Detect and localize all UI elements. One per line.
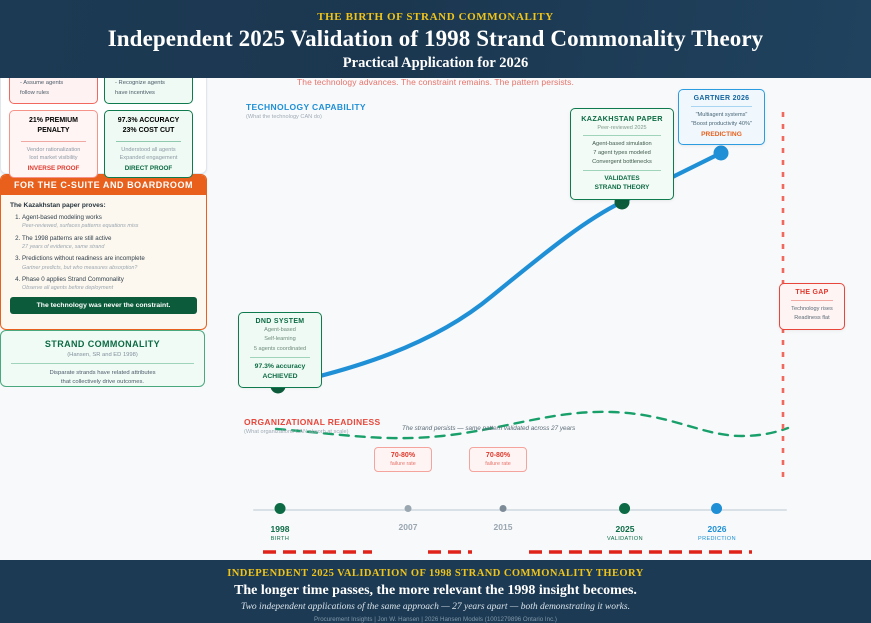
failure-1-value: 70-80% <box>381 452 425 459</box>
technology-capability-curve <box>278 202 622 386</box>
label-tech-title: TECHNOLOGY CAPABILITY <box>246 102 366 112</box>
gartner-title: GARTNER 2026 <box>683 95 760 102</box>
timeline-year: 2026 <box>698 524 736 534</box>
list-item: have incentives <box>115 89 188 99</box>
csuite-item-main: Phase 0 applies Strand Commonality <box>22 276 124 283</box>
list-item: Predictions without readiness are incomp… <box>22 255 197 272</box>
card-penalty-proof: INVERSE PROOF <box>14 165 93 172</box>
page-header: THE BIRTH OF STRAND COMMONALITY Independ… <box>0 0 871 78</box>
kz-sub: Peer-reviewed 2025 <box>575 125 669 131</box>
timeline-node-2026[interactable]: 2026 PREDICTION <box>698 503 736 542</box>
gartner-key: PREDICTING <box>683 131 760 138</box>
divider <box>791 300 833 301</box>
list-item: follow rules <box>20 89 93 99</box>
csuite-lead: The Kazakhstan paper proves: <box>10 202 197 209</box>
csuite-item-main: The 1998 patterns are still active <box>22 235 111 242</box>
marker-gartner-2026 <box>714 146 729 161</box>
kz-title: KAZAKHSTAN PAPER <box>575 114 669 123</box>
dnd-title: DND SYSTEM <box>242 318 318 325</box>
footer-sub: Two independent applications of the same… <box>0 602 871 612</box>
panel-strand-commonality: STRAND COMMONALITY (Hansen, SR and ED 19… <box>0 330 205 387</box>
timeline-dot <box>711 503 722 514</box>
panel-csuite: FOR THE C-SUITE AND BOARDROOM The Kazakh… <box>0 174 207 330</box>
label-technology-capability: TECHNOLOGY CAPABILITY (What the technolo… <box>246 102 366 120</box>
divider <box>583 135 661 136</box>
timeline-node-2015[interactable]: 2015 <box>494 503 513 534</box>
divider <box>691 106 752 107</box>
csuite-item-main: Agent-based modeling works <box>22 214 102 221</box>
divider <box>116 141 181 142</box>
footer-main: The longer time passes, the more relevan… <box>0 583 871 599</box>
timeline-dot <box>619 503 630 514</box>
list-item: Phase 0 applies Strand Commonality Obser… <box>22 276 197 293</box>
strand-line-2: that collectively drive outcomes. <box>1 378 204 387</box>
timeline-dot <box>404 505 411 512</box>
gartner-line-1: "Multiagent systems" <box>683 111 760 120</box>
label-ready-title: ORGANIZATIONAL READINESS <box>244 417 381 427</box>
page-subtitle: Practical Application for 2026 <box>0 55 871 72</box>
timeline-year: 2025 <box>607 524 643 534</box>
list-item: Agent-based modeling works Peer-reviewed… <box>22 214 197 231</box>
gartner-line-2: "Boost productivity 40%" <box>683 120 760 129</box>
card-accuracy-line-2: Expanded engagement <box>109 154 188 163</box>
timeline-year: 1998 <box>271 524 290 534</box>
annotation-gartner-2026: GARTNER 2026 "Multiagent systems" "Boost… <box>678 89 765 145</box>
label-organizational-readiness: ORGANIZATIONAL READINESS (What organizat… <box>244 417 381 435</box>
card-accuracy-title-2: 23% COST CUT <box>109 126 188 136</box>
gap-line-1: Technology rises <box>783 305 841 314</box>
csuite-item-sub: 27 years of evidence, same strand <box>22 244 197 251</box>
footer-eyebrow: INDEPENDENT 2025 VALIDATION OF 1998 STRA… <box>0 568 871 579</box>
dnd-line-3: 5 agents coordinated <box>242 345 318 353</box>
timeline: 1998 BIRTH 2007 2015 2025 VALIDATION 202… <box>240 500 800 552</box>
divider <box>250 357 310 358</box>
page-title: Independent 2025 Validation of 1998 Stra… <box>0 26 871 52</box>
card-accuracy-line-1: Understood all agents <box>109 146 188 155</box>
header-eyebrow: THE BIRTH OF STRAND COMMONALITY <box>0 11 871 23</box>
timeline-year: 2015 <box>494 522 513 532</box>
card-penalty-line-2: lost market visibility <box>14 154 93 163</box>
strand-line-1: Disparate strands have related attribute… <box>1 369 204 378</box>
timeline-node-2025[interactable]: 2025 VALIDATION <box>607 503 643 542</box>
timeline-dot <box>499 505 506 512</box>
timeline-node-2007[interactable]: 2007 <box>399 503 418 534</box>
kz-key-1: VALIDATES <box>575 175 669 184</box>
kz-line-2: 7 agent types modeled <box>575 149 669 158</box>
timeline-year: 2007 <box>399 522 418 532</box>
gap-title: THE GAP <box>783 289 841 296</box>
divider <box>11 363 194 364</box>
panel-csuite-header: FOR THE C-SUITE AND BOARDROOM <box>1 175 206 195</box>
divider <box>583 170 661 171</box>
card-accuracy-title-1: 97.3% ACCURACY <box>109 116 188 126</box>
csuite-list: Agent-based modeling works Peer-reviewed… <box>10 214 197 293</box>
divider <box>21 141 86 142</box>
gap-line-2: Readiness flat <box>783 314 841 323</box>
csuite-item-main: Predictions without readiness are incomp… <box>22 255 145 262</box>
dnd-line-1: Agent-based <box>242 326 318 334</box>
card-penalty-line-1: Vendor rationalization <box>14 146 93 155</box>
failure-2-value: 70-80% <box>476 452 520 459</box>
badge-failure-rate-1: 70-80% failure rate <box>374 447 432 472</box>
csuite-item-sub: Peer-reviewed, surfaces patterns equatio… <box>22 223 197 230</box>
annotation-the-gap: THE GAP Technology rises Readiness flat <box>779 283 845 330</box>
kz-line-3: Convergent bottlenecks <box>575 158 669 167</box>
csuite-item-sub: Gartner predicts, but who measures absor… <box>22 265 197 272</box>
card-penalty-title-1: 21% PREMIUM <box>14 116 93 126</box>
strand-sub: (Hansen, SR and ED 1998) <box>1 352 204 358</box>
card-accuracy-proof: DIRECT PROOF <box>109 165 188 172</box>
strand-title: STRAND COMMONALITY <box>1 339 204 349</box>
annotation-kazakhstan-paper: KAZAKHSTAN PAPER Peer-reviewed 2025 Agen… <box>570 108 674 200</box>
csuite-banner: The technology was never the constraint. <box>10 297 197 314</box>
label-ready-sub: (What organizations CAN absorb at scale) <box>244 429 381 435</box>
card-penalty-title-2: PENALTY <box>14 126 93 136</box>
timeline-caption: VALIDATION <box>607 536 643 542</box>
timeline-caption: PREDICTION <box>698 536 736 542</box>
dnd-line-2: Self-learning <box>242 335 318 343</box>
kz-key-2: STRAND THEORY <box>575 184 669 193</box>
card-premium-penalty: 21% PREMIUM PENALTY Vendor rationalizati… <box>9 110 98 178</box>
dnd-key-1: 97.3% accuracy <box>242 362 318 372</box>
annotation-dnd-system: DND SYSTEM Agent-based Self-learning 5 a… <box>238 312 322 388</box>
list-item: The 1998 patterns are still active 27 ye… <box>22 235 197 252</box>
timeline-caption: BIRTH <box>271 536 290 542</box>
note-strand-persists: The strand persists — same pattern valid… <box>402 425 575 432</box>
badge-failure-rate-2: 70-80% failure rate <box>469 447 527 472</box>
infographic-root: THE BIRTH OF STRAND COMMONALITY Independ… <box>0 0 871 623</box>
dnd-key-2: ACHIEVED <box>242 372 318 382</box>
csuite-item-sub: Observe all agents before deployment <box>22 285 197 292</box>
card-accuracy: 97.3% ACCURACY 23% COST CUT Understood a… <box>104 110 193 178</box>
failure-2-label: failure rate <box>476 461 520 467</box>
kz-line-1: Agent-based simulation <box>575 140 669 149</box>
footer-credit: Procurement Insights | Jon W. Hansen | 2… <box>0 616 871 623</box>
label-tech-sub: (What the technology CAN do) <box>246 114 366 120</box>
page-footer: INDEPENDENT 2025 VALIDATION OF 1998 STRA… <box>0 560 871 623</box>
timeline-dot <box>274 503 285 514</box>
timeline-node-1998[interactable]: 1998 BIRTH <box>271 503 290 542</box>
failure-1-label: failure rate <box>381 461 425 467</box>
